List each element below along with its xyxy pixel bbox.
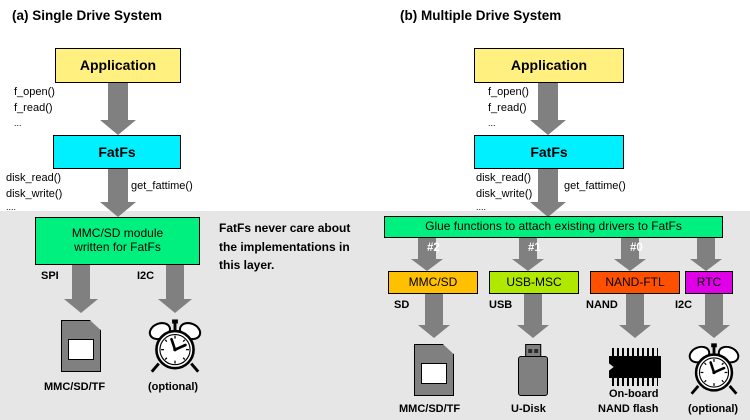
- panel-a-arrow-i2c: [158, 265, 192, 313]
- panel-a-disk-call-0: disk_read(): [6, 172, 61, 184]
- panel-b-fattime-call: get_fattime(): [564, 180, 626, 192]
- sd-card-icon: [61, 320, 101, 372]
- panel-b-bus-label-usb: USB: [489, 299, 512, 311]
- panel-a-bus-label-i2c: I2C: [137, 270, 154, 282]
- panel-b-arrow-fatfs-to-glue: [530, 169, 566, 217]
- panel-b-bus-label-i2c: I2C: [675, 299, 692, 311]
- driver-box-rtc: RTC: [685, 271, 733, 294]
- panel-b-drive-number-2: #2: [427, 242, 440, 254]
- driver-box-mmcsd: MMC/SD: [388, 271, 478, 294]
- panel-a-api-call-2: ...: [14, 118, 22, 128]
- panel-a-device-label-left: MMC/SD/TF: [44, 381, 105, 393]
- driver-box-usbmsc: USB-MSC: [489, 271, 579, 294]
- panel-b-arrow-bus-i2c: [698, 294, 730, 338]
- panel-b-disk-call-2: ....: [476, 202, 486, 212]
- panel-b-drive-number-0: #0: [630, 242, 643, 254]
- panel-b-bus-label-nand: NAND: [586, 299, 618, 311]
- panel-b-device-label-rtc: (optional): [688, 403, 738, 415]
- panel-b-application-box: Application: [474, 48, 624, 83]
- panel-a-fattime-call: get_fattime(): [131, 180, 193, 192]
- panel-a-disk-call-1: disk_write(): [6, 188, 62, 200]
- panel-b-device-label-usb: U-Disk: [511, 403, 546, 415]
- layer-note: FatFs never care about the implementatio…: [219, 219, 369, 275]
- panel-a-module-line-1: MMC/SD module: [72, 227, 163, 241]
- panel-b-arrow-bus-nand: [619, 294, 651, 338]
- panel-b-drive-number-1: #1: [528, 242, 541, 254]
- panel-a-disk-call-2: ....: [6, 202, 16, 212]
- panel-b-arrow-rtc: [690, 238, 722, 271]
- panel-b-device-label-nand-1: On-board: [609, 388, 659, 400]
- alarm-clock-icon: [146, 316, 204, 374]
- panel-b-arrow-bus-usb: [517, 294, 549, 338]
- panel-b-api-call-1: f_read(): [488, 102, 527, 114]
- panel-a-arrow-fatfs-to-module: [100, 169, 136, 217]
- panel-a-bus-label-spi: SPI: [41, 270, 59, 282]
- panel-a-arrow-spi: [64, 265, 98, 313]
- panel-b-device-label-mmcsd: MMC/SD/TF: [399, 403, 460, 415]
- panel-b-disk-call-0: disk_read(): [476, 172, 531, 184]
- sd-card-icon: [414, 344, 454, 396]
- panel-b-arrow-bus-sd: [418, 294, 450, 338]
- figure-root: (a) Single Drive System Application f_op…: [0, 0, 750, 420]
- panel-b-glue-box: Glue functions to attach existing driver…: [384, 216, 723, 238]
- alarm-clock-icon: [686, 340, 742, 396]
- panel-a-mmcsd-module-box: MMC/SD module written for FatFs: [35, 217, 200, 265]
- panel-a-api-call-0: f_open(): [14, 86, 55, 98]
- driver-box-nandftl: NAND-FTL: [590, 271, 680, 294]
- panel-a-module-line-2: written for FatFs: [74, 241, 161, 255]
- panel-b-device-label-nand-2: NAND flash: [598, 403, 659, 415]
- panel-b-title: (b) Multiple Drive System: [400, 8, 561, 23]
- panel-b-fatfs-box: FatFs: [474, 135, 624, 169]
- panel-b-api-call-2: ...: [488, 118, 496, 128]
- panel-a-application-box: Application: [55, 48, 181, 83]
- panel-a-arrow-app-to-fatfs: [100, 83, 136, 135]
- panel-b-arrow-app-to-fatfs: [530, 83, 566, 135]
- panel-a-title: (a) Single Drive System: [12, 8, 162, 23]
- panel-a-api-call-1: f_read(): [14, 102, 53, 114]
- panel-b-api-call-0: f_open(): [488, 86, 529, 98]
- nand-chip-icon: [609, 348, 661, 386]
- panel-b-bus-label-sd: SD: [394, 299, 409, 311]
- panel-a-fatfs-box: FatFs: [53, 135, 181, 169]
- panel-b-disk-call-1: disk_write(): [476, 188, 532, 200]
- panel-a-device-label-right: (optional): [148, 381, 198, 393]
- usb-stick-icon: [518, 344, 548, 396]
